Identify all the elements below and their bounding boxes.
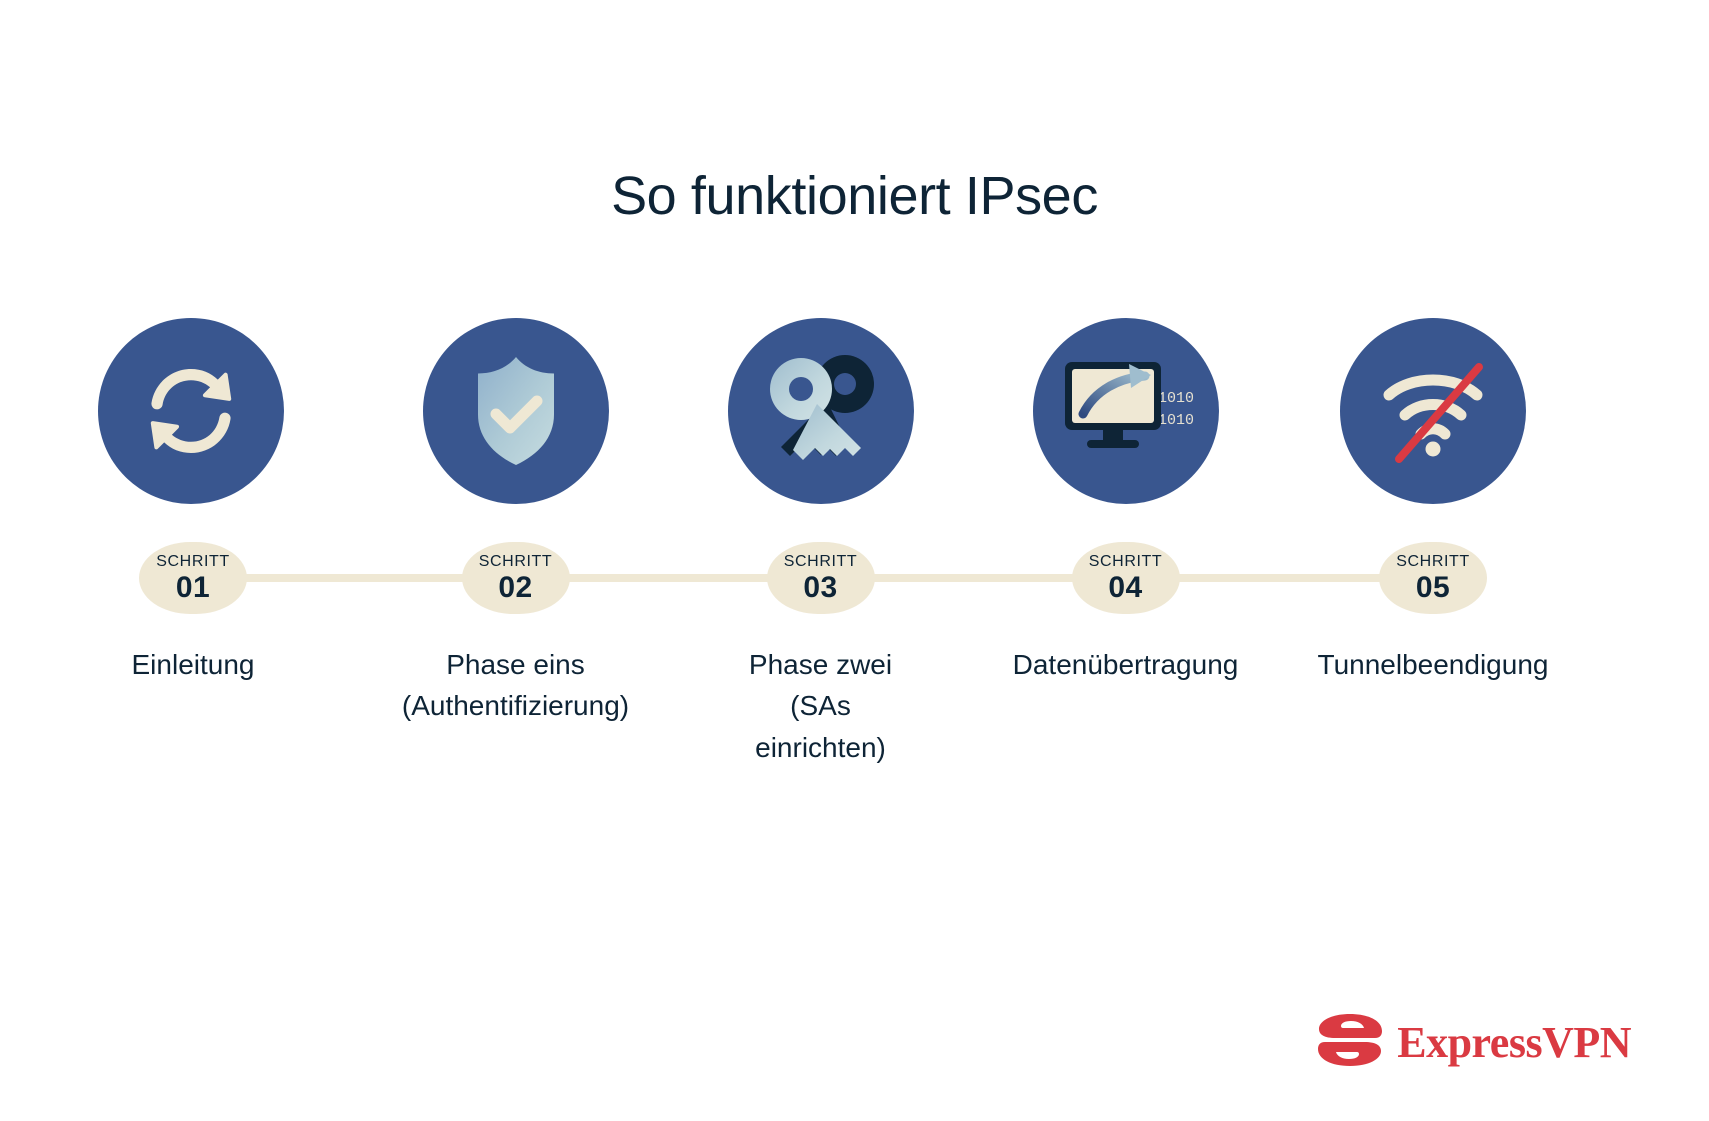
two-keys-icon [755, 351, 887, 471]
expressvpn-logo[interactable]: ExpressVPN [1317, 1012, 1631, 1073]
step-01-badge: SCHRITT 01 [139, 542, 247, 614]
shield-check-icon [462, 353, 570, 469]
timeline-steps: SCHRITT 01 Einleitung [0, 318, 1709, 768]
timeline-step-03[interactable]: SCHRITT 03 Phase zwei (SAs einrichten) [668, 318, 973, 768]
timeline-step-02[interactable]: SCHRITT 02 Phase eins (Authentifizierung… [363, 318, 668, 768]
step-04-badge: SCHRITT 04 [1072, 542, 1180, 614]
step-05-badge-word: SCHRITT [1396, 554, 1470, 570]
step-05-badge-number: 05 [1416, 573, 1450, 603]
ipsec-process-timeline: SCHRITT 01 Einleitung [0, 318, 1709, 838]
expressvpn-logo-mark-icon [1317, 1012, 1383, 1073]
step-05-label: Tunnelbeendigung [1318, 644, 1549, 685]
step-04-badge-number: 04 [1108, 573, 1142, 603]
step-01-icon-circle [98, 318, 284, 504]
page-title: So funktioniert IPsec [0, 164, 1709, 229]
monitor-data-transfer-icon: 0101010 0101010 [1059, 352, 1193, 470]
step-03-badge-number: 03 [803, 573, 837, 603]
timeline-step-05[interactable]: SCHRITT 05 Tunnelbeendigung [1278, 318, 1588, 768]
step-03-label: Phase zwei (SAs einrichten) [749, 644, 892, 768]
step-05-icon-circle [1340, 318, 1526, 504]
timeline-step-04[interactable]: 0101010 0101010 [973, 318, 1278, 768]
timeline-step-01[interactable]: SCHRITT 01 Einleitung [23, 318, 363, 768]
step-01-badge-number: 01 [176, 573, 210, 603]
step-03-icon-circle [728, 318, 914, 504]
step-01-label: Einleitung [132, 644, 255, 685]
wifi-disabled-icon [1373, 359, 1493, 463]
step-04-label: Datenübertragung [1013, 644, 1239, 685]
step-02-badge-word: SCHRITT [479, 554, 553, 570]
step-05-badge: SCHRITT 05 [1379, 542, 1487, 614]
step-04-badge-word: SCHRITT [1089, 554, 1163, 570]
step-03-badge-word: SCHRITT [784, 554, 858, 570]
step-02-label: Phase eins (Authentifizierung) [402, 644, 629, 727]
step-01-badge-word: SCHRITT [156, 554, 230, 570]
step-02-badge-number: 02 [498, 573, 532, 603]
step-04-icon-circle: 0101010 0101010 [1033, 318, 1219, 504]
step-02-icon-circle [423, 318, 609, 504]
step-02-badge: SCHRITT 02 [462, 542, 570, 614]
refresh-sync-icon [135, 355, 247, 467]
step-03-badge: SCHRITT 03 [767, 542, 875, 614]
expressvpn-logo-text: ExpressVPN [1397, 1021, 1631, 1065]
